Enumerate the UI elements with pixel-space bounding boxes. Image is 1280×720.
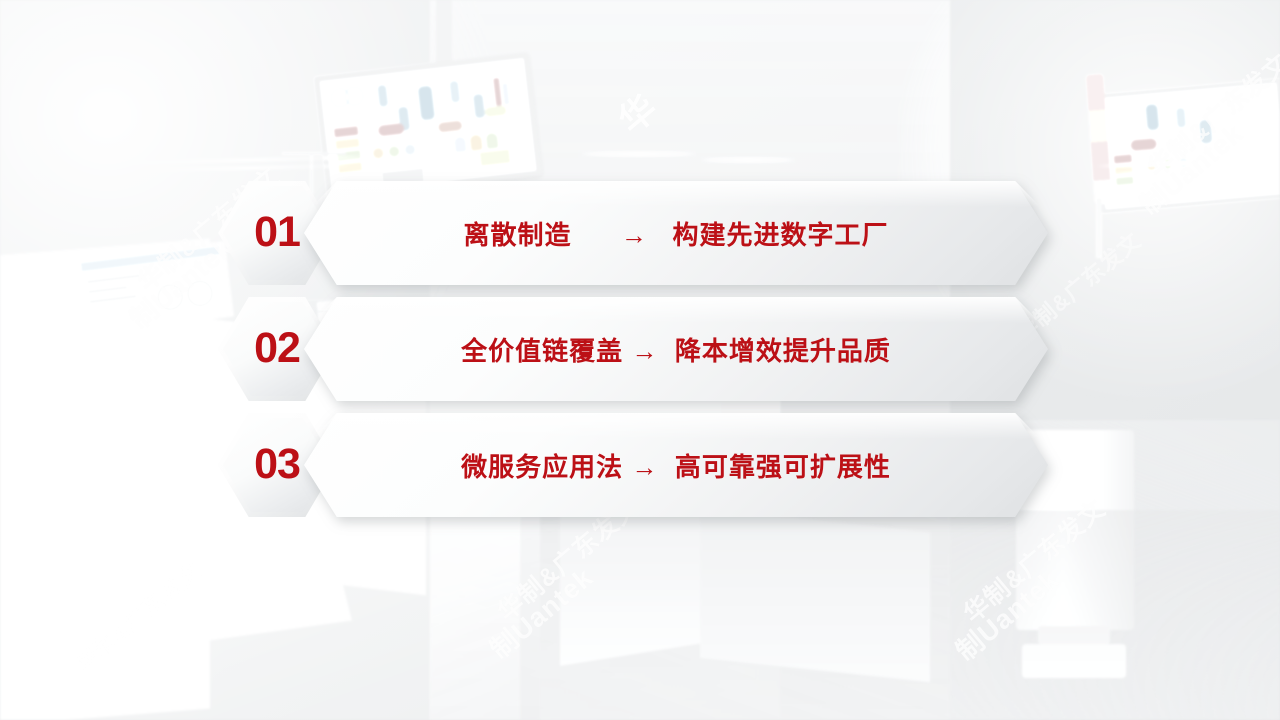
- step-number: 01: [254, 208, 300, 257]
- step-text: 微服务应用法 → 高可靠强可扩展性: [304, 413, 1048, 517]
- step-number: 03: [254, 440, 300, 489]
- step-banner[interactable]: 离散制造 → 构建先进数字工厂: [304, 181, 1048, 285]
- step-banner[interactable]: 微服务应用法 → 高可靠强可扩展性: [304, 413, 1048, 517]
- step-banner[interactable]: 全价值链覆盖 → 降本增效提升品质: [304, 297, 1048, 401]
- step-number: 02: [254, 324, 300, 373]
- list-item[interactable]: 01 离散制造 → 构建先进数字工厂: [0, 175, 1280, 291]
- slide-canvas: 华制&广东发文 制Uantek 华 华制&广东发文 制Uantek 华制&广东发…: [0, 0, 1280, 720]
- step-text: 全价值链覆盖 → 降本增效提升品质: [304, 297, 1048, 401]
- bullet-rows: 01 离散制造 → 构建先进数字工厂 02 全价值链覆盖 → 降本增效提升品质: [0, 0, 1280, 720]
- step-text: 离散制造 → 构建先进数字工厂: [304, 181, 1048, 285]
- list-item[interactable]: 03 微服务应用法 → 高可靠强可扩展性: [0, 407, 1280, 523]
- list-item[interactable]: 02 全价值链覆盖 → 降本增效提升品质: [0, 291, 1280, 407]
